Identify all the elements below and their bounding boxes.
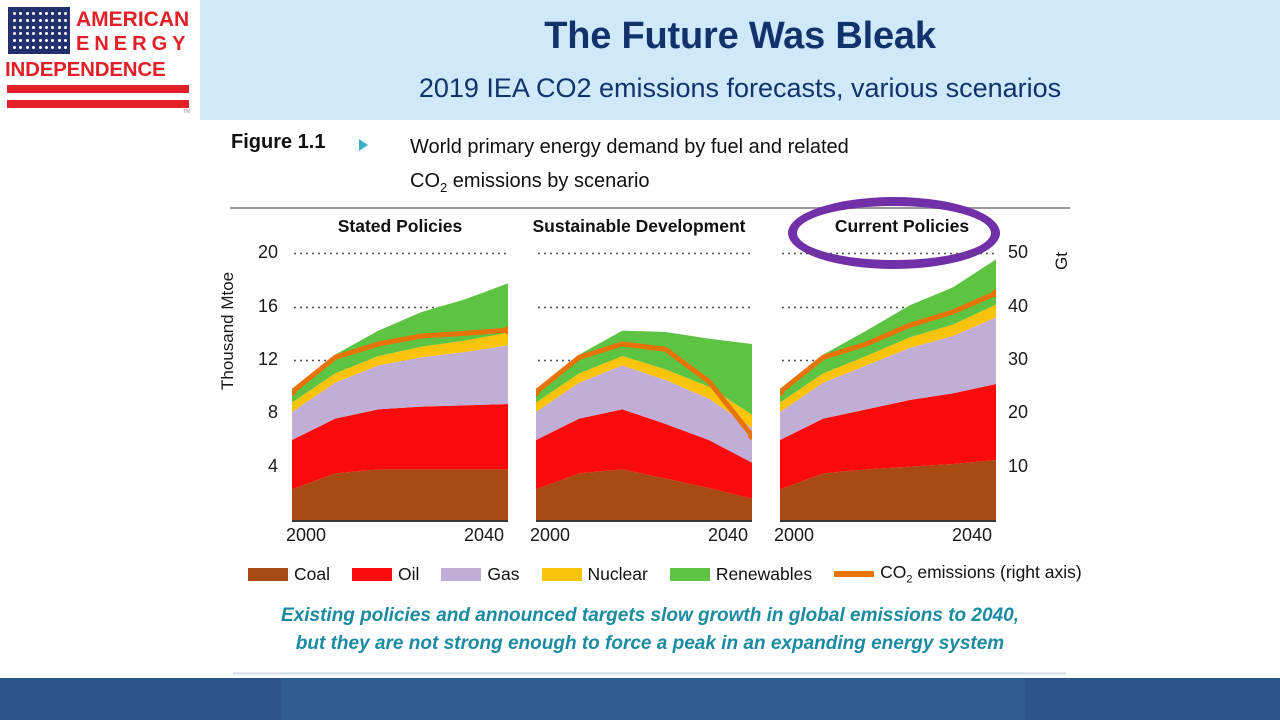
legend-item: Coal [248, 564, 330, 585]
panel-baseline [292, 520, 508, 522]
figure-title-line1: World primary energy demand by fuel and … [410, 136, 849, 158]
y-tick-right: 20 [1008, 402, 1044, 423]
x-tick: 2000 [774, 525, 814, 546]
figure-title-line2: CO2 emissions by scenario [410, 170, 650, 192]
panel-sustainable-development [536, 240, 752, 520]
bottom-bar-accent [281, 678, 1025, 720]
panel-title-sustainable-development: Sustainable Development [524, 216, 754, 237]
logo-line-american: AMERICAN [76, 8, 189, 32]
legend-item: Renewables [670, 564, 812, 585]
legend-item: CO2 emissions (right axis) [834, 562, 1082, 586]
logo-line-independence: INDEPENDENCE [5, 58, 166, 82]
y-axis-label-left: Thousand Mtoe [218, 272, 238, 390]
panel-current-policies [780, 240, 996, 520]
logo-trademark: TM [183, 109, 190, 115]
legend-item: Nuclear [542, 564, 648, 585]
legend-item: Gas [441, 564, 519, 585]
y-tick-right: 50 [1008, 242, 1044, 263]
legend-swatch-gas [441, 568, 481, 581]
y-tick-left: 8 [242, 402, 278, 423]
panel-baseline [780, 520, 996, 522]
y-tick-left: 4 [242, 456, 278, 477]
y-tick-left: 12 [242, 349, 278, 370]
slide: The Future Was Bleak 2019 IEA CO2 emissi… [0, 0, 1280, 720]
legend-swatch-oil [352, 568, 392, 581]
footer-note: Existing policies and announced targets … [230, 602, 1070, 657]
panel-stated-policies [292, 240, 508, 520]
x-tick: 2040 [464, 525, 504, 546]
footer-divider [233, 672, 1066, 675]
x-tick: 2040 [708, 525, 748, 546]
x-tick: 2000 [530, 525, 570, 546]
footer-note-line1: Existing policies and announced targets … [281, 605, 1019, 626]
x-tick: 2040 [952, 525, 992, 546]
page-subtitle: 2019 IEA CO2 emissions forecasts, variou… [200, 74, 1280, 104]
x-tick: 2000 [286, 525, 326, 546]
y-tick-left: 20 [242, 242, 278, 263]
y-tick-right: 10 [1008, 456, 1044, 477]
legend-label: Nuclear [588, 564, 648, 585]
legend-swatch-nuclear [542, 568, 582, 581]
legend-swatch-co2 [834, 571, 874, 577]
y-tick-left: 16 [242, 296, 278, 317]
legend-swatch-renewables [670, 568, 710, 581]
logo-stripe-top [7, 85, 189, 93]
y-axis-label-right: Gt [1052, 252, 1072, 270]
legend-label: Oil [398, 564, 419, 585]
logo: AMERICAN ENERGY INDEPENDENCE TM [0, 0, 200, 120]
panel-baseline [536, 520, 752, 522]
flag-icon [8, 7, 70, 54]
figure-label: Figure 1.1 [231, 131, 325, 154]
page-title: The Future Was Bleak [200, 16, 1280, 58]
y-tick-right: 30 [1008, 349, 1044, 370]
legend-label: Renewables [716, 564, 812, 585]
y-tick-right: 40 [1008, 296, 1044, 317]
logo-line-energy: ENERGY [76, 33, 190, 56]
chart-legend: CoalOilGasNuclearRenewablesCO2 emissions… [248, 563, 1068, 585]
footer-note-line2: but they are not strong enough to force … [296, 633, 1004, 654]
legend-label: CO2 emissions (right axis) [880, 562, 1082, 586]
legend-swatch-coal [248, 568, 288, 581]
triangle-right-icon [359, 139, 368, 151]
chart: Stated Policies Sustainable Development … [230, 200, 1070, 595]
legend-item: Oil [352, 564, 419, 585]
legend-label: Gas [487, 564, 519, 585]
figure-title: World primary energy demand by fuel and … [410, 130, 1030, 200]
panel-title-stated-policies: Stated Policies [292, 216, 508, 237]
legend-label: Coal [294, 564, 330, 585]
logo-stripe-bottom [7, 100, 189, 108]
